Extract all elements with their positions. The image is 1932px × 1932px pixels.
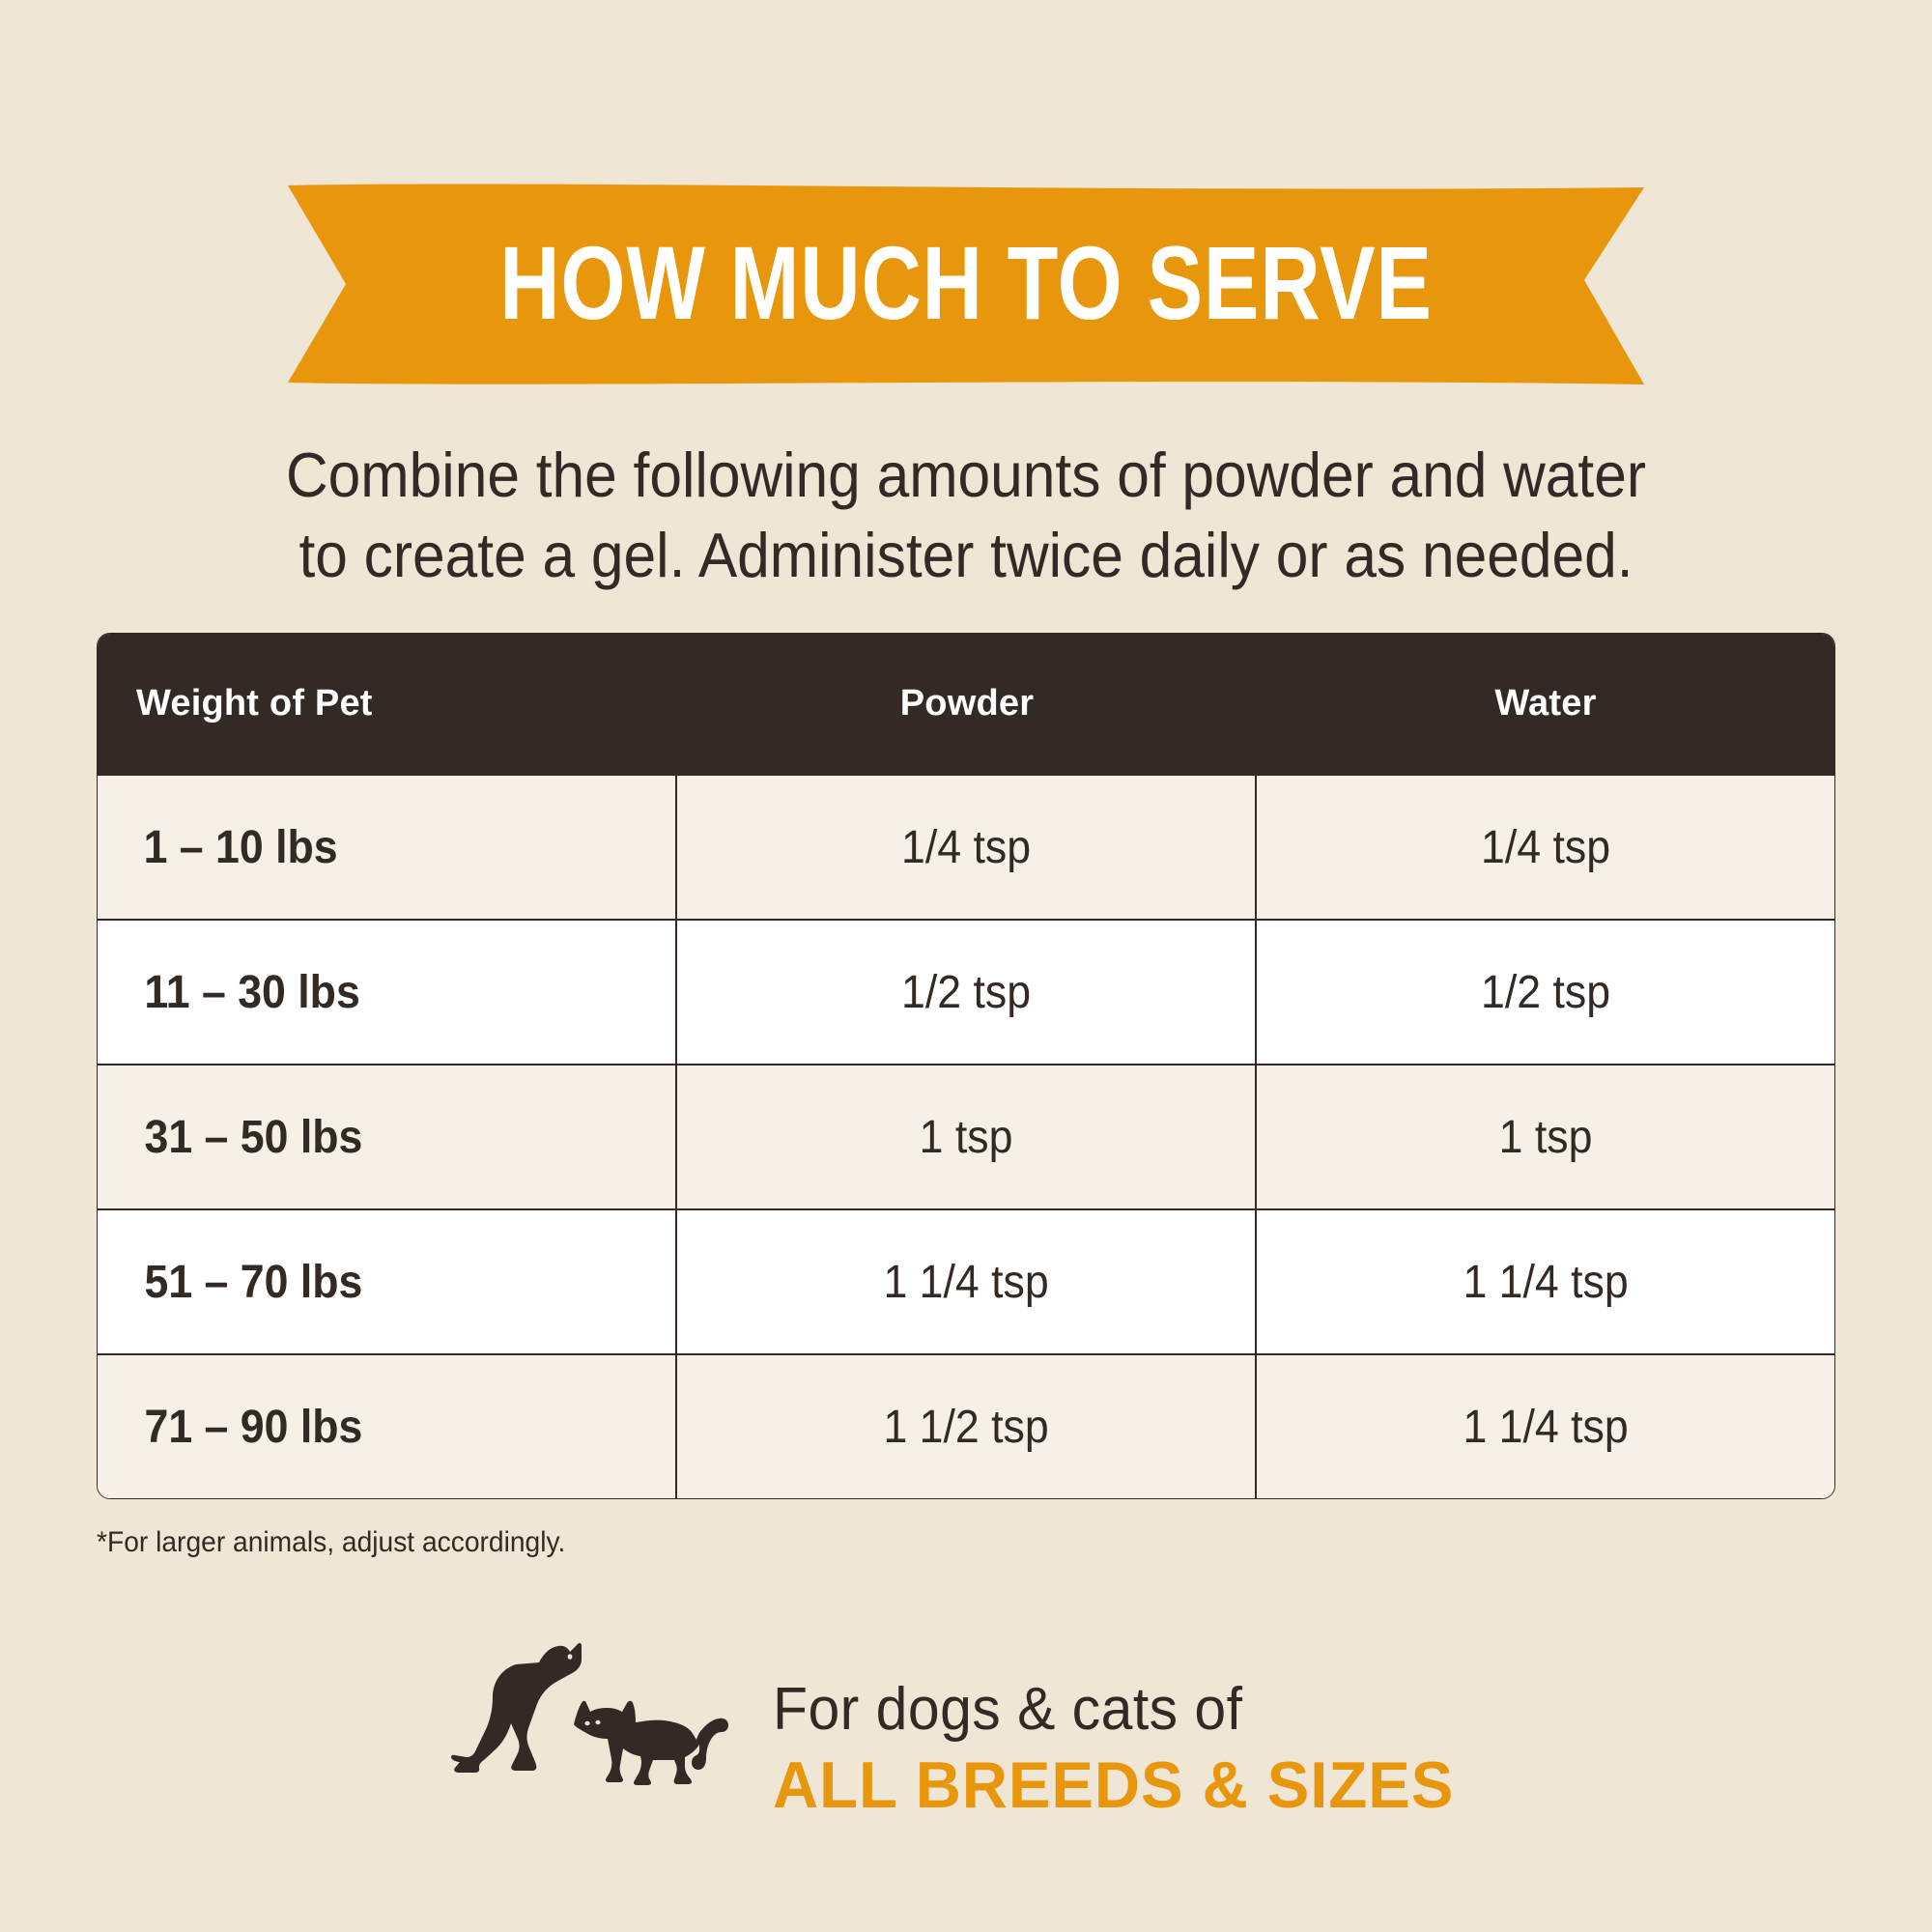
cell-powder-text: 1 1/4 tsp — [883, 1256, 1048, 1309]
cell-water: 1 tsp — [1257, 1065, 1834, 1208]
cell-water: 1/4 tsp — [1257, 776, 1834, 919]
column-header-weight: Weight of Pet — [98, 634, 677, 774]
cell-powder: 1/4 tsp — [677, 776, 1257, 919]
pet-silhouettes — [450, 1633, 740, 1831]
intro-text: Combine the following amounts of powder … — [157, 435, 1775, 595]
column-header-powder: Powder — [677, 634, 1257, 774]
bottom-line-2: ALL BREEDS & SIZES — [773, 1747, 1454, 1823]
cell-powder: 1/2 tsp — [677, 921, 1257, 1064]
intro-line-1: Combine the following amounts of powder … — [157, 435, 1775, 515]
table-row: 1 – 10 lbs 1/4 tsp 1/4 tsp — [98, 774, 1834, 919]
bottom-line-1: For dogs & cats of — [773, 1676, 1447, 1743]
cell-water: 1/2 tsp — [1257, 921, 1834, 1064]
cell-weight: 31 – 50 lbs — [98, 1065, 677, 1208]
cell-weight-text: 71 – 90 lbs — [144, 1401, 362, 1454]
cell-water-text: 1/4 tsp — [1481, 821, 1610, 874]
cell-weight: 71 – 90 lbs — [98, 1355, 677, 1498]
cell-powder-text: 1/2 tsp — [901, 966, 1031, 1019]
bottom-badge-text: For dogs & cats of ALL BREEDS & SIZES — [773, 1676, 1483, 1831]
cell-water: 1 1/4 tsp — [1257, 1355, 1834, 1498]
cell-powder: 1 1/4 tsp — [677, 1210, 1257, 1353]
cell-weight-text: 1 – 10 lbs — [144, 821, 338, 874]
cell-water-text: 1 1/4 tsp — [1463, 1256, 1628, 1309]
cell-powder-text: 1 tsp — [920, 1111, 1013, 1164]
dosage-table: Weight of Pet Powder Water 1 – 10 lbs 1/… — [97, 633, 1835, 1499]
cat-silhouette-icon — [574, 1701, 728, 1785]
cell-powder-text: 1 1/2 tsp — [883, 1401, 1048, 1454]
column-header-water: Water — [1257, 634, 1834, 774]
cell-weight-text: 11 – 30 lbs — [144, 966, 359, 1019]
header-banner: HOW MUCH TO SERVE — [0, 184, 1932, 386]
cell-powder: 1 1/2 tsp — [677, 1355, 1257, 1498]
cell-weight-text: 31 – 50 lbs — [144, 1111, 362, 1164]
table-row: 71 – 90 lbs 1 1/2 tsp 1 1/4 tsp — [98, 1353, 1834, 1498]
cell-weight: 1 – 10 lbs — [98, 776, 677, 919]
cell-weight: 11 – 30 lbs — [98, 921, 677, 1064]
cell-water-text: 1/2 tsp — [1481, 966, 1610, 1019]
footnote-text: *For larger animals, adjust accordingly. — [97, 1526, 565, 1559]
cell-water-text: 1 1/4 tsp — [1463, 1401, 1628, 1454]
table-row: 51 – 70 lbs 1 1/4 tsp 1 1/4 tsp — [98, 1208, 1834, 1353]
pet-silhouettes-svg — [450, 1633, 740, 1826]
infographic-page: HOW MUCH TO SERVE Combine the following … — [0, 0, 1932, 1932]
dog-silhouette-icon — [451, 1643, 582, 1773]
cell-powder: 1 tsp — [677, 1065, 1257, 1208]
table-row: 31 – 50 lbs 1 tsp 1 tsp — [98, 1064, 1834, 1208]
cell-weight: 51 – 70 lbs — [98, 1210, 677, 1353]
table-row: 11 – 30 lbs 1/2 tsp 1/2 tsp — [98, 919, 1834, 1064]
cell-powder-text: 1/4 tsp — [901, 821, 1031, 874]
cell-water: 1 1/4 tsp — [1257, 1210, 1834, 1353]
cell-water-text: 1 tsp — [1499, 1111, 1593, 1164]
cell-weight-text: 51 – 70 lbs — [144, 1256, 362, 1309]
intro-line-2: to create a gel. Administer twice daily … — [157, 515, 1775, 595]
table-header-row: Weight of Pet Powder Water — [98, 634, 1834, 774]
page-title: HOW MUCH TO SERVE — [193, 184, 1739, 386]
bottom-badge: For dogs & cats of ALL BREEDS & SIZES — [0, 1633, 1932, 1831]
